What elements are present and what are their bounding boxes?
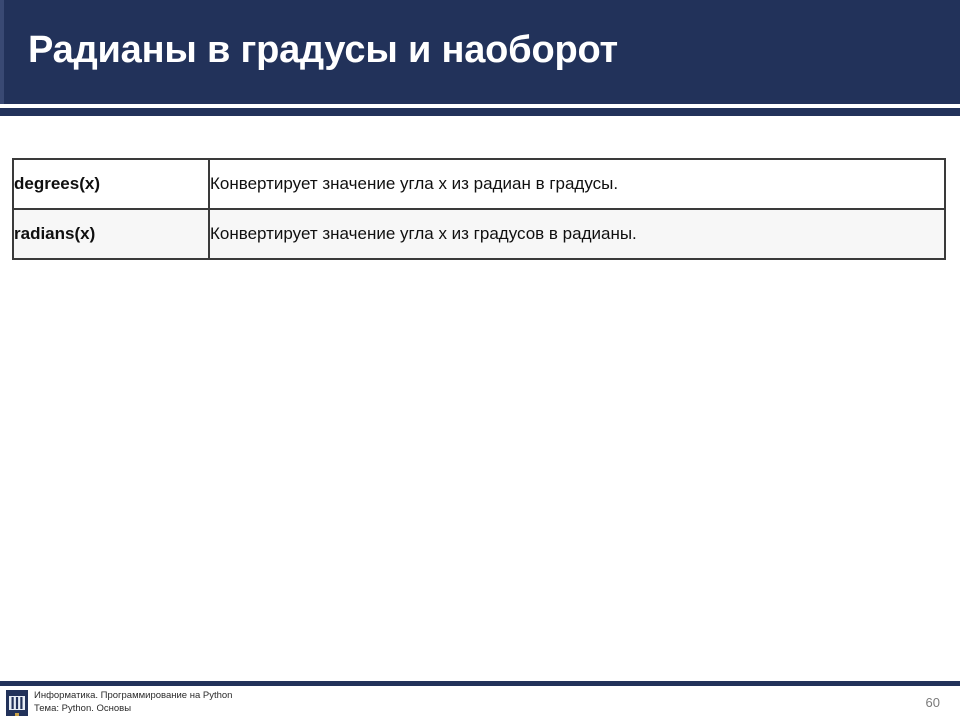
functions-table-container: degrees(x) Конвертирует значение угла x … xyxy=(12,158,946,260)
slide-title-bar: Радианы в градусы и наоборот xyxy=(0,0,960,104)
table-cell-description: Конвертирует значение угла x из радиан в… xyxy=(209,159,945,209)
page-number: 60 xyxy=(926,695,940,710)
table-cell-function-name: degrees(x) xyxy=(13,159,209,209)
table-cell-description: Конвертирует значение угла x из градусов… xyxy=(209,209,945,259)
slide-footer: Информатика. Программирование на Python … xyxy=(0,686,960,720)
institute-emblem-icon xyxy=(6,690,28,716)
footer-caption: Информатика. Программирование на Python … xyxy=(34,690,232,715)
table-cell-function-name: radians(x) xyxy=(13,209,209,259)
functions-table: degrees(x) Конвертирует значение угла x … xyxy=(12,158,946,260)
title-bar-left-accent xyxy=(0,0,4,104)
footer-course-line: Информатика. Программирование на Python xyxy=(34,690,232,701)
slide: Радианы в градусы и наоборот degrees(x) … xyxy=(0,0,960,720)
title-underline-rule xyxy=(0,108,960,116)
table-row: degrees(x) Конвертирует значение угла x … xyxy=(13,159,945,209)
footer-topic-line: Тема: Python. Основы xyxy=(34,703,232,716)
table-row: radians(x) Конвертирует значение угла x … xyxy=(13,209,945,259)
page-title: Радианы в градусы и наоборот xyxy=(28,27,908,73)
